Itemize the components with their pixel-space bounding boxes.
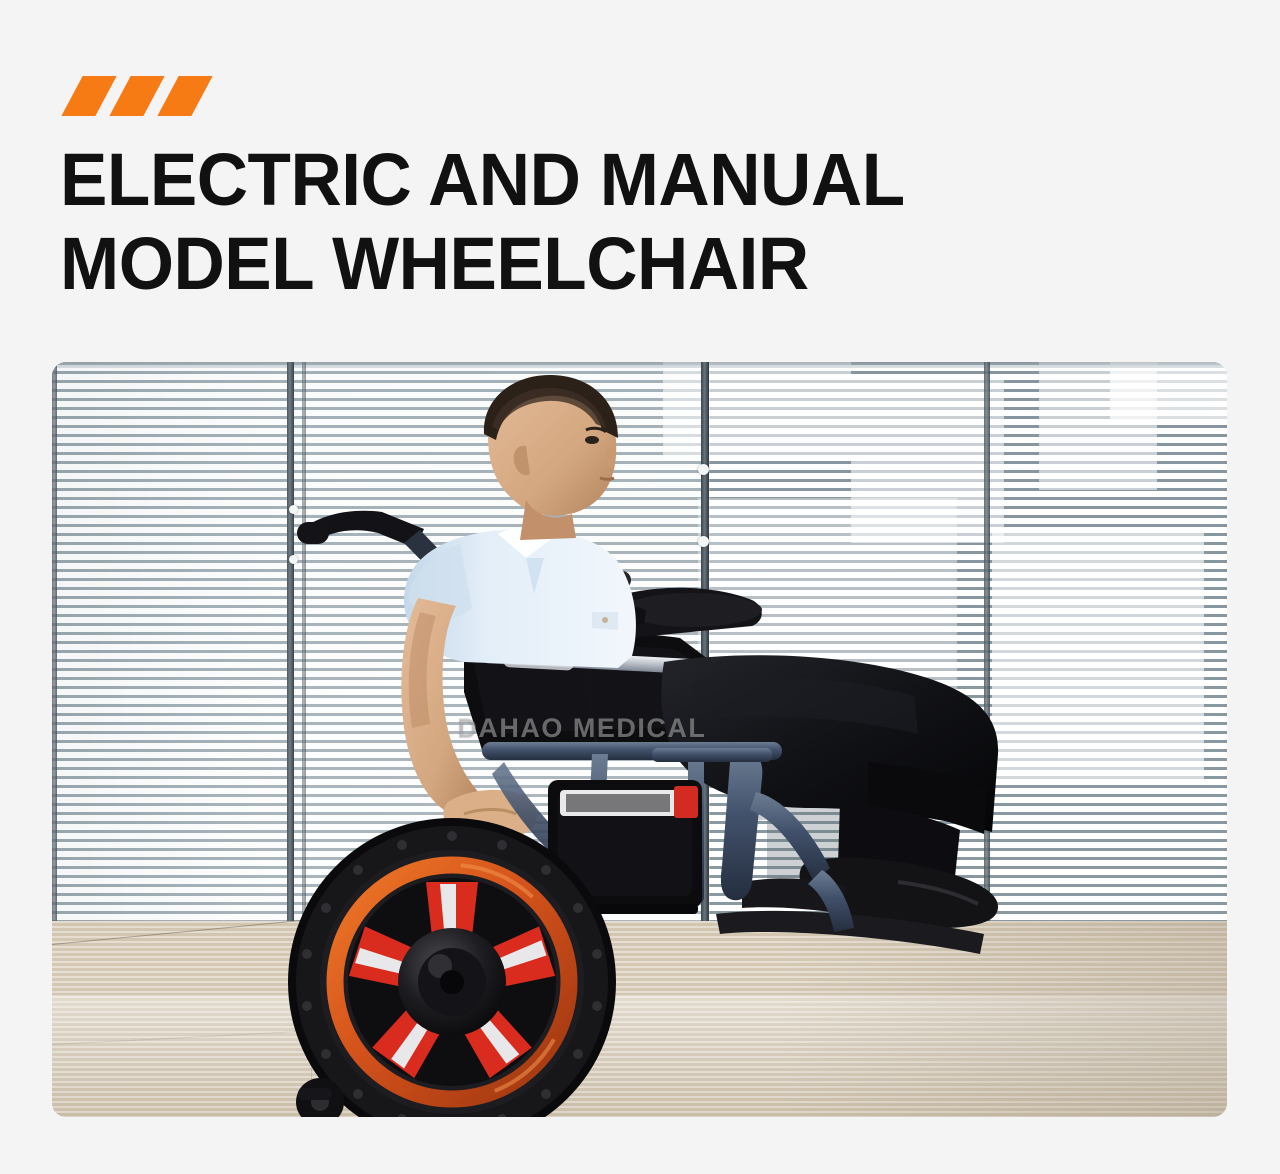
page-title-line-1: ELECTRIC AND MANUAL (60, 138, 1116, 222)
product-photo-wheelchair: DAHAO MEDICAL (52, 362, 1227, 1117)
accent-slash-2 (109, 76, 164, 116)
accent-slash-1 (61, 76, 116, 116)
triple-slash-accent-icon (64, 76, 214, 116)
photo-watermark: DAHAO MEDICAL (457, 713, 706, 744)
page-title-line-2: MODEL WHEELCHAIR (60, 222, 1116, 306)
photo-scene: DAHAO MEDICAL (52, 362, 1227, 1117)
accent-slash-3 (157, 76, 212, 116)
page-title: ELECTRIC AND MANUAL MODEL WHEELCHAIR (60, 138, 1160, 306)
product-banner-page: ELECTRIC AND MANUAL MODEL WHEELCHAIR (0, 0, 1280, 1174)
